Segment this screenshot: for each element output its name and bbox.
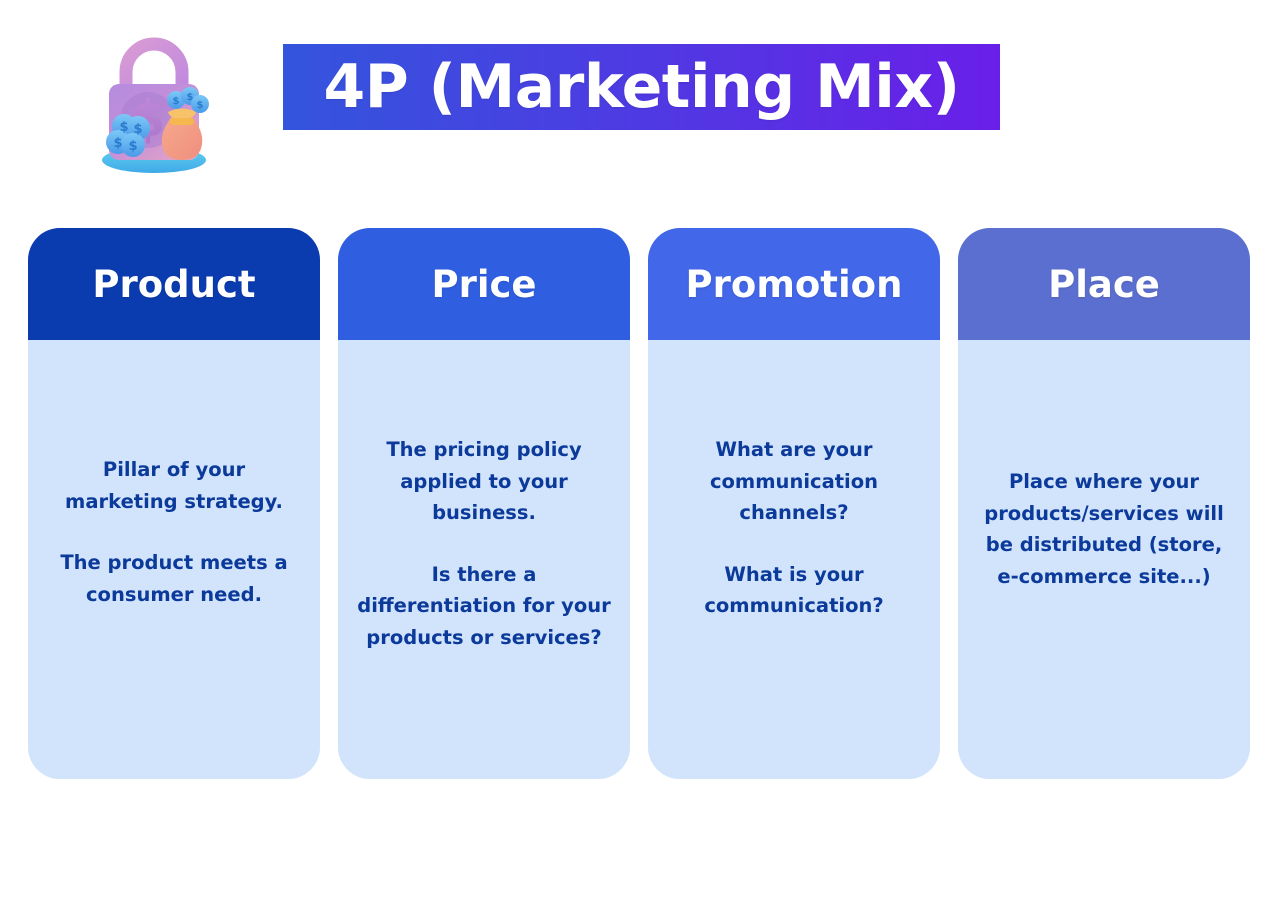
- card-price-body: The pricing policy applied to your busin…: [338, 340, 630, 779]
- svg-text:$: $: [187, 92, 194, 103]
- shopping-bag-money-3d-icon: $ $ $ $ $ $ $ $: [78, 32, 228, 177]
- paragraph-spacer: [46, 517, 302, 547]
- card-promotion-body: What are your communication channels? Wh…: [648, 340, 940, 779]
- card-product-title: Product: [92, 266, 255, 303]
- paragraph-spacer: [356, 529, 612, 559]
- card-product[interactable]: Product Pillar of your marketing strateg…: [28, 228, 320, 779]
- card-promotion-title: Promotion: [686, 266, 903, 303]
- card-price-header: Price: [338, 228, 630, 340]
- marketing-mix-cards: Product Pillar of your marketing strateg…: [28, 228, 1250, 779]
- card-place[interactable]: Place Place where your products/services…: [958, 228, 1250, 779]
- card-price[interactable]: Price The pricing policy applied to your…: [338, 228, 630, 779]
- header-area: $ $ $ $ $ $ $ $: [0, 0, 1280, 200]
- card-product-header: Product: [28, 228, 320, 340]
- card-place-paragraph-1: Place where your products/services will …: [976, 466, 1232, 592]
- card-promotion-header: Promotion: [648, 228, 940, 340]
- page-title: 4P (Marketing Mix): [324, 57, 960, 117]
- card-price-title: Price: [431, 266, 536, 303]
- card-product-paragraph-2: The product meets a consumer need.: [46, 547, 302, 610]
- card-place-header: Place: [958, 228, 1250, 340]
- card-product-paragraph-1: Pillar of your marketing strategy.: [46, 454, 302, 517]
- title-banner: 4P (Marketing Mix): [283, 44, 1000, 130]
- svg-text:$: $: [173, 96, 180, 107]
- paragraph-spacer: [666, 529, 922, 559]
- card-price-paragraph-1: The pricing policy applied to your busin…: [356, 434, 612, 529]
- svg-text:$: $: [133, 122, 142, 137]
- card-price-paragraph-2: Is there a differentiation for your prod…: [356, 559, 612, 654]
- svg-text:$: $: [119, 120, 128, 135]
- svg-text:$: $: [128, 139, 137, 154]
- svg-text:$: $: [113, 136, 122, 151]
- card-promotion-paragraph-1: What are your communication channels?: [666, 434, 922, 529]
- svg-text:$: $: [197, 100, 204, 111]
- card-promotion[interactable]: Promotion What are your communication ch…: [648, 228, 940, 779]
- card-place-body: Place where your products/services will …: [958, 340, 1250, 779]
- card-product-body: Pillar of your marketing strategy. The p…: [28, 340, 320, 779]
- card-place-title: Place: [1048, 266, 1160, 303]
- card-promotion-paragraph-2: What is your communication?: [666, 559, 922, 622]
